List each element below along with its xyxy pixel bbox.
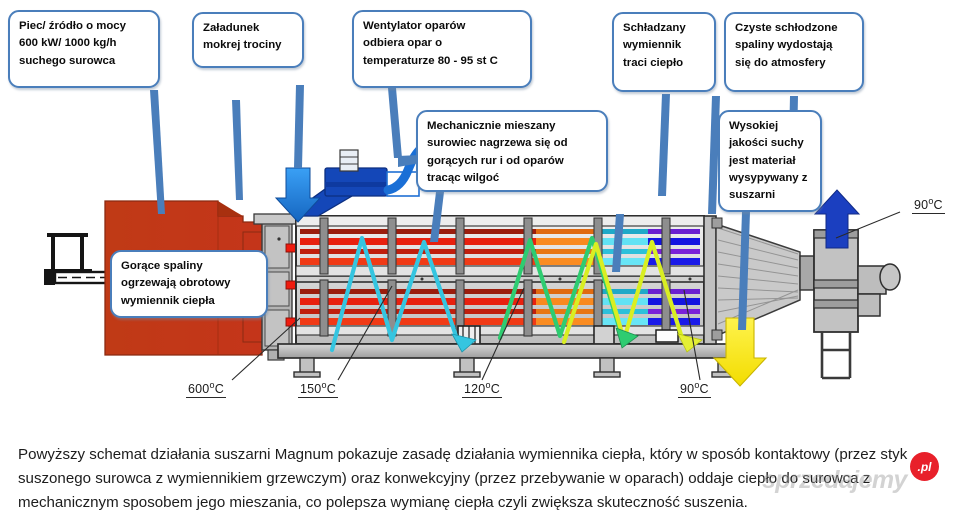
callout-clean-flue-gas[interactable]: Czyste schłodzone spaliny wydostają się … [724,12,864,92]
temperature-label-furnace: 600oC [186,380,226,398]
callout-furnace-power[interactable]: Piec/ źródło o mocy 600 kW/ 1000 kg/h su… [8,10,160,88]
description-paragraph: Powyższy schemat działania suszarni Magn… [18,443,930,515]
callout-hot-flue-gas[interactable]: Gorące spaliny ogrzewają obrotowy wymien… [110,250,268,318]
temp-value: 90 [914,198,928,212]
callout-vapour-fan[interactable]: Wentylator oparów odbiera opar o tempera… [352,10,532,88]
temp-scale: C [215,382,224,396]
temp-value: 120 [464,382,485,396]
callout-wet-load[interactable]: Załadunek mokrej trociny [192,12,304,68]
temp-value: 600 [188,382,209,396]
exhaust-fan [800,230,900,378]
temp-scale: C [700,382,709,396]
base-frame [278,344,748,377]
temp-scale: C [491,382,500,396]
diagram-page: Piec/ źródło o mocy 600 kW/ 1000 kg/h su… [0,0,960,521]
temperature-label-outlet: 90oC [678,380,711,398]
callout-cooled-exchanger[interactable]: Schładzany wymiennik traci ciepło [612,12,716,92]
callout-mixing-heating[interactable]: Mechanicznie mieszany surowiec nagrzewa … [416,110,608,192]
loading-chute [296,138,436,216]
temp-value: 90 [680,382,694,396]
temp-value: 150 [300,382,321,396]
temp-scale: C [934,198,943,212]
temperature-label-stack: 90oC [912,196,945,214]
callout-dry-output[interactable]: Wysokiej jakości suchy jest materiał wys… [718,110,822,212]
temperature-label-inlet: 150oC [298,380,338,398]
temperature-label-middle: 120oC [462,380,502,398]
temp-scale: C [327,382,336,396]
